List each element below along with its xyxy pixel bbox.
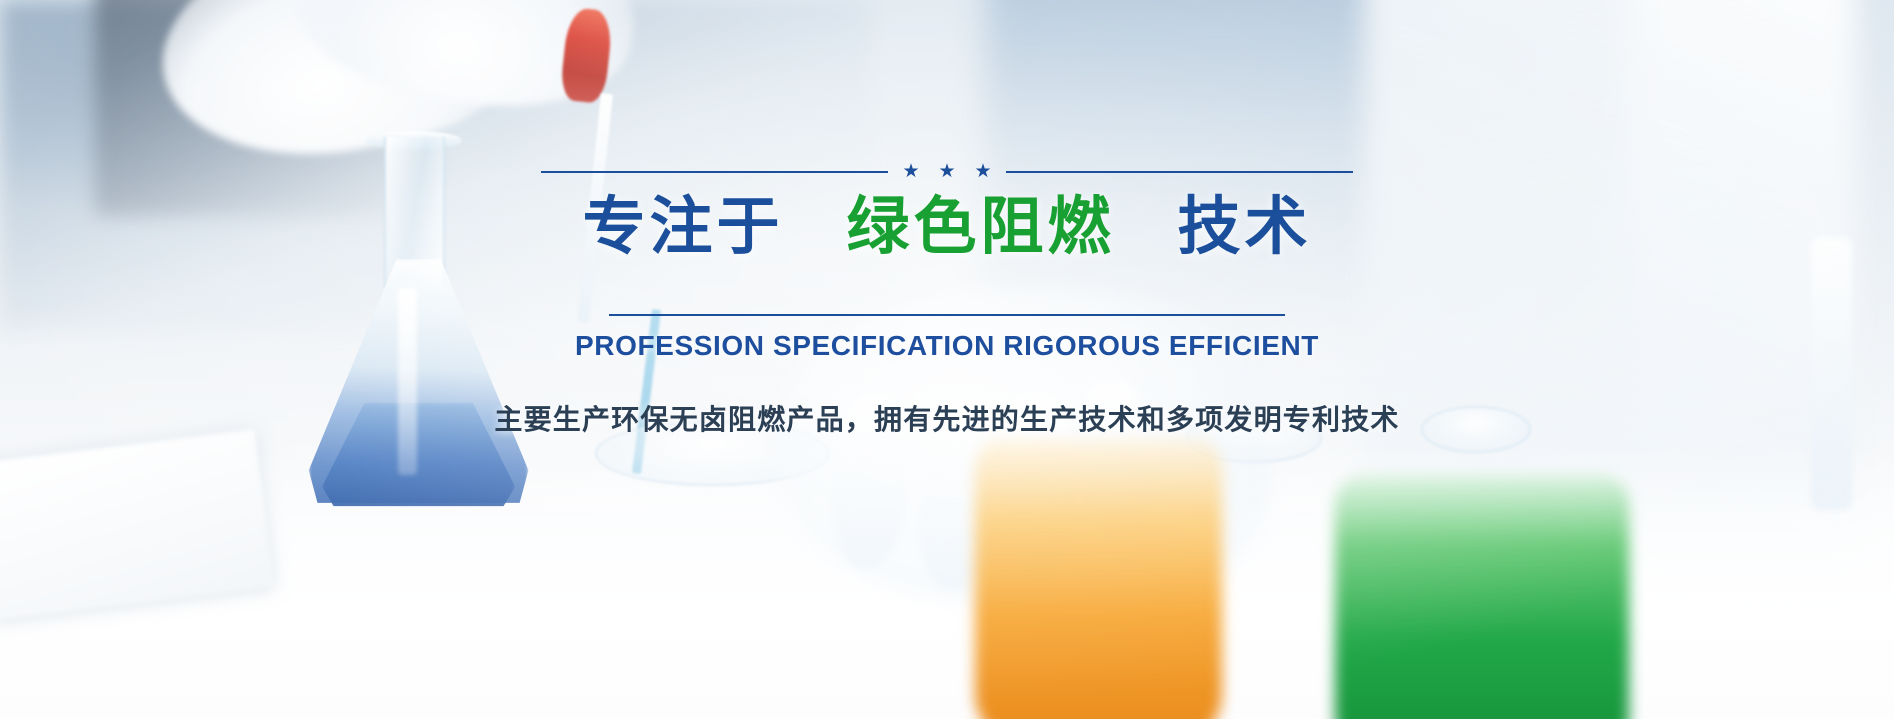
banner-headline: 专注于 绿色阻燃 技术 bbox=[582, 193, 1311, 261]
banner-tagline-chinese: 主要生产环保无卤阻燃产品，拥有先进的生产技术和多项发明专利技术 bbox=[494, 398, 1399, 438]
hero-banner: ★ ★ ★ 专注于 绿色阻燃 技术 PROFESSION SPECIFICATI… bbox=[0, 0, 1894, 719]
star-icon: ★ bbox=[902, 162, 919, 181]
star-icon: ★ bbox=[938, 162, 955, 181]
rule-line-right bbox=[1006, 171, 1353, 173]
decorative-rule-with-stars: ★ ★ ★ bbox=[541, 162, 1353, 181]
banner-subtitle-english: PROFESSION SPECIFICATION RIGOROUS EFFICI… bbox=[575, 330, 1319, 362]
star-icon: ★ bbox=[975, 162, 992, 181]
star-group: ★ ★ ★ bbox=[902, 162, 991, 181]
rule-line-left bbox=[541, 171, 888, 173]
headline-part-3: 技术 bbox=[1178, 192, 1312, 262]
banner-text-overlay: ★ ★ ★ 专注于 绿色阻燃 技术 PROFESSION SPECIFICATI… bbox=[0, 0, 1894, 719]
headline-underline bbox=[609, 314, 1285, 316]
headline-part-2: 绿色阻燃 bbox=[847, 192, 1115, 262]
headline-part-1: 专注于 bbox=[582, 192, 783, 262]
